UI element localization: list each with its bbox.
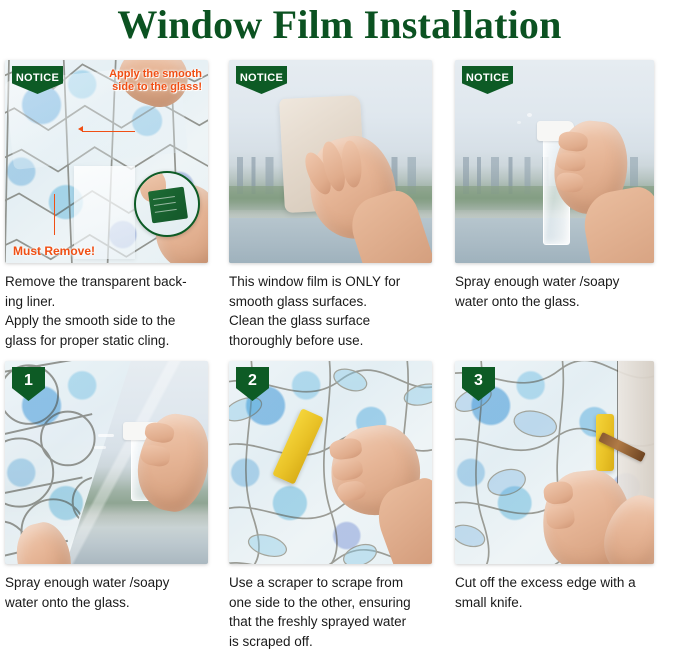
caption-line: Spray enough water /soapy [5,573,208,593]
mist-droplet [527,113,532,117]
steps-grid: NOTICE Apply the smooth side to the glas… [0,60,679,651]
callout-leader-top [82,131,135,132]
caption-line: Clean the glass surface [229,311,434,331]
spray-mist [94,446,106,449]
inset-detail-circle [134,171,200,237]
caption-line: Remove the transparent back- [5,272,208,292]
callout-leader-bottom [54,194,55,235]
steps-row-top: NOTICE Apply the smooth side to the glas… [0,60,679,350]
caption-line: ing liner. [5,292,208,312]
step-card-1-spray: 1 Spray enough water /soapy water onto t… [0,350,226,651]
caption-line: Use a scraper to scrape from [229,573,434,593]
step-photo-3-trim[interactable]: 3 [455,361,654,564]
step-caption-smooth-glass-only: This window film is ONLY for smooth glas… [229,272,434,350]
infographic-page: Window Film Installation [0,0,679,663]
step-card-remove-liner: NOTICE Apply the smooth side to the glas… [0,60,226,350]
step-card-2-scrape: 2 Use a scraper to scrape from one side … [226,350,452,651]
spray-mist [98,434,114,437]
callout-must-remove: Must Remove! [13,244,95,258]
step-photo-1-spray[interactable]: 1 [5,361,208,564]
callout-apply-smooth-line1: Apply the smooth [109,68,202,80]
caption-line: water onto the glass. [5,593,208,613]
caption-line: Apply the smooth side to the [5,311,208,331]
caption-line: water onto the glass. [455,292,668,312]
page-title: Window Film Installation [0,1,679,49]
caption-line: smooth glass surfaces. [229,292,434,312]
step-card-spray-water-notice: NOTICE Spray enough water /soapy water o… [452,60,678,350]
step-card-3-trim: 3 Cut off the excess edge with a small k… [452,350,678,651]
callout-arrow-top [78,126,83,132]
step-photo-spray-water-notice[interactable]: NOTICE [455,60,654,263]
step-photo-remove-liner[interactable]: NOTICE Apply the smooth side to the glas… [5,60,208,263]
step-caption-remove-liner: Remove the transparent back- ing liner. … [5,272,208,350]
callout-apply-smooth-line2: side to the glass! [112,81,202,93]
step-caption-1-spray: Spray enough water /soapy water onto the… [5,573,208,612]
caption-line: This window film is ONLY for [229,272,434,292]
step-caption-spray-water-notice: Spray enough water /soapy water onto the… [455,272,668,311]
step-card-smooth-glass-only: NOTICE This window film is ONLY for smoo… [226,60,452,350]
step-photo-2-scrape[interactable]: 2 [229,361,432,564]
callout-apply-smooth: Apply the smooth side to the glass! [109,68,202,94]
caption-line: that the freshly sprayed water [229,612,434,632]
step-photo-smooth-glass-only[interactable]: NOTICE [229,60,432,263]
mist-droplet [517,121,521,124]
caption-line: one side to the other, ensuring [229,593,434,613]
caption-line: is scraped off. [229,632,434,652]
caption-line: glass for proper static cling. [5,331,208,351]
inset-green-card [148,187,188,224]
step-caption-2-scrape: Use a scraper to scrape from one side to… [229,573,434,651]
caption-line: thoroughly before use. [229,331,434,351]
caption-line: small knife. [455,593,668,613]
steps-row-bottom: 1 Spray enough water /soapy water onto t… [0,350,679,651]
caption-line: Cut off the excess edge with a [455,573,668,593]
caption-line: Spray enough water /soapy [455,272,668,292]
step-caption-3-trim: Cut off the excess edge with a small kni… [455,573,668,612]
